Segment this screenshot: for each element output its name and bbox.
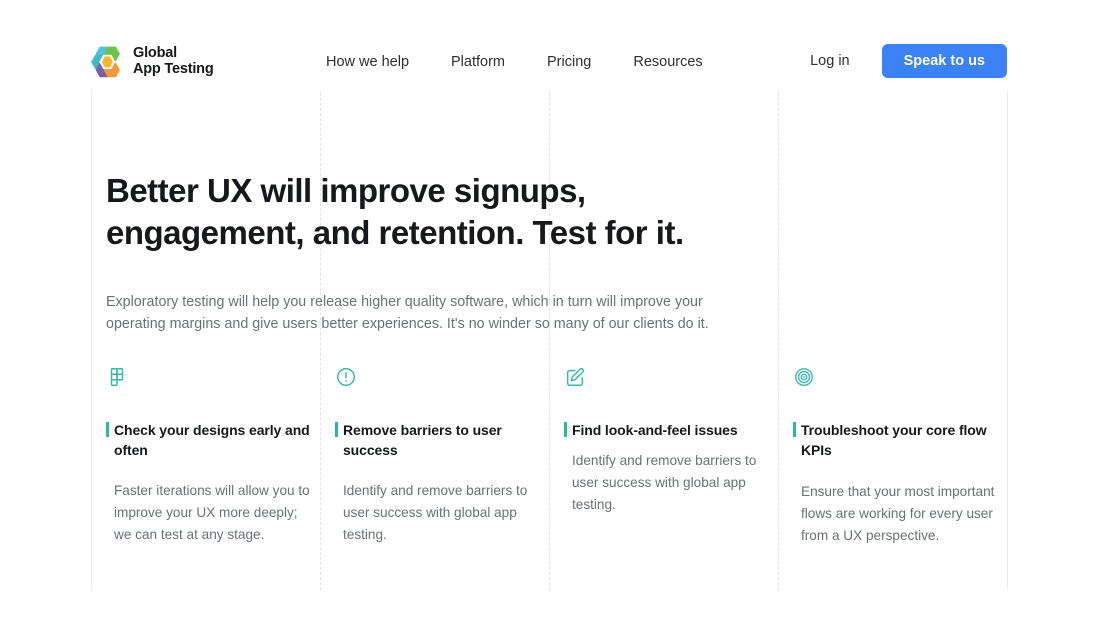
nav-item-platform[interactable]: Platform [451,53,505,71]
nav-item-pricing[interactable]: Pricing [547,53,591,71]
page-title: Better UX will improve signups, engageme… [106,170,786,254]
nav-item-resources[interactable]: Resources [633,53,702,71]
header-actions: Log in Speak to us [810,44,1007,78]
main-navigation: How we help Platform Pricing Resources [326,53,703,71]
accent-bar-3 [564,422,567,437]
hexagon-cluster-logo-icon [88,43,124,79]
brand-name: Global App Testing [133,45,214,77]
feature-body-2: Identify and remove barriers to user suc… [335,480,540,546]
target-bullseye-icon [793,366,998,390]
login-link[interactable]: Log in [810,53,850,69]
feature-heading-wrap-1: Check your designs early and often [106,420,311,460]
feature-heading-wrap-4: Troubleshoot your core flow KPIs [793,420,998,460]
nav-item-how-we-help[interactable]: How we help [326,53,409,71]
feature-title-2: Remove barriers to user success [343,420,540,460]
feature-body-1: Faster iterations will allow you to impr… [106,480,311,546]
brand-name-line2: App Testing [133,61,214,77]
feature-title-4: Troubleshoot your core flow KPIs [801,420,998,460]
feature-column-2: Remove barriers to user success Identify… [335,366,540,546]
feature-title-3: Find look-and-feel issues [572,420,769,440]
feature-column-4: Troubleshoot your core flow KPIs Ensure … [793,366,998,547]
accent-bar-2 [335,422,338,437]
feature-body-3: Identify and remove barriers to user suc… [564,450,769,516]
site-header: Global App Testing How we help Platform … [0,0,1100,90]
edit-square-icon [564,366,769,390]
accent-bar-1 [106,422,109,437]
feature-heading-wrap-3: Find look-and-feel issues [564,420,769,440]
feature-title-1: Check your designs early and often [114,420,311,460]
feature-column-3: Find look-and-feel issues Identify and r… [564,366,769,516]
figma-components-icon [106,366,311,390]
feature-body-4: Ensure that your most important flows ar… [793,481,998,547]
alert-circle-icon [335,366,540,390]
feature-column-1: Check your designs early and often Faste… [106,366,311,546]
main-content: Better UX will improve signups, engageme… [0,0,1100,630]
accent-bar-4 [793,422,796,437]
speak-to-us-button[interactable]: Speak to us [882,44,1007,78]
page-root: Global App Testing How we help Platform … [0,0,1100,630]
feature-heading-wrap-2: Remove barriers to user success [335,420,540,460]
brand-logo[interactable]: Global App Testing [88,43,214,79]
page-subtitle: Exploratory testing will help you releas… [106,291,766,335]
brand-name-line1: Global [133,45,214,61]
